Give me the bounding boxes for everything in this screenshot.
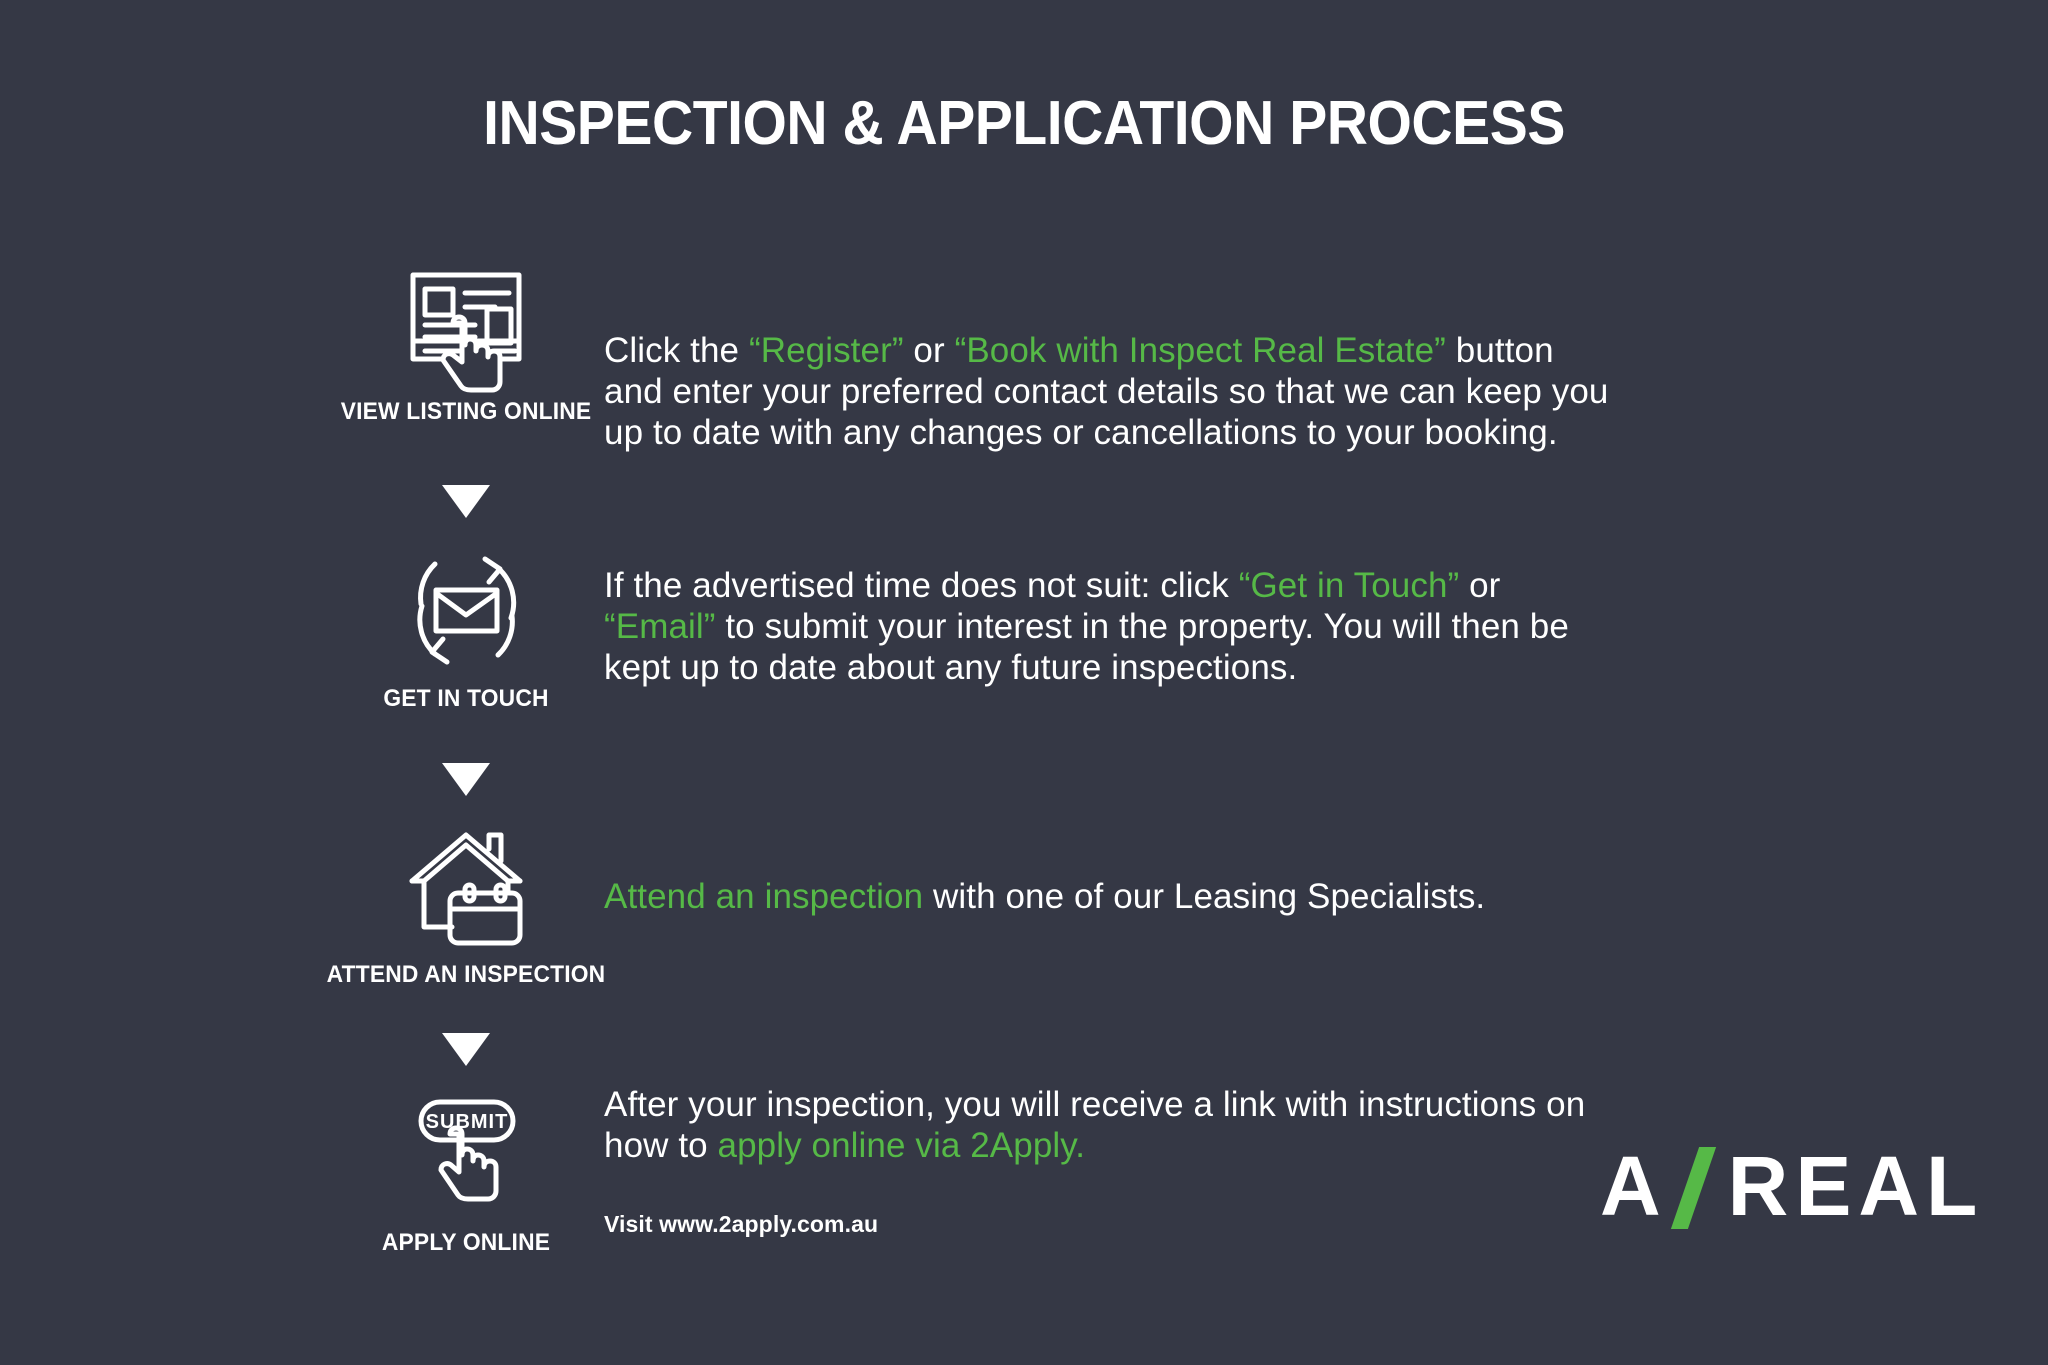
step-4-description: After your inspection, you will receive …	[604, 1085, 1614, 1167]
step-1-description: Click the “Register” or “Book with Inspe…	[604, 331, 1614, 454]
logo-word-real: REAL	[1728, 1144, 1985, 1228]
step-3-description: Attend an inspection with one of our Lea…	[604, 877, 1614, 918]
logo-letter-a: A	[1600, 1144, 1668, 1228]
step-4-label: APPLY ONLINE	[278, 1229, 654, 1257]
brand-logo: A REAL	[1600, 1140, 1984, 1232]
flow-arrow-3	[268, 1033, 664, 1066]
svg-text:SUBMIT: SUBMIT	[426, 1111, 509, 1133]
chevron-down-icon	[442, 485, 490, 518]
flow-arrow-2	[268, 763, 664, 796]
step-2-description: If the advertised time does not suit: cl…	[604, 566, 1614, 689]
chevron-down-icon	[442, 763, 490, 796]
step-1-label: VIEW LISTING ONLINE	[278, 398, 654, 426]
logo-slash-icon	[1674, 1143, 1726, 1229]
chevron-down-icon	[442, 1033, 490, 1066]
visit-url-line: Visit www.2apply.com.au	[604, 1211, 878, 1238]
page-title: INSPECTION & APPLICATION PROCESS	[82, 88, 1966, 159]
step-3-label: ATTEND AN INSPECTION	[278, 961, 654, 989]
step-2-label: GET IN TOUCH	[278, 685, 654, 713]
flow-arrow-1	[268, 485, 664, 518]
